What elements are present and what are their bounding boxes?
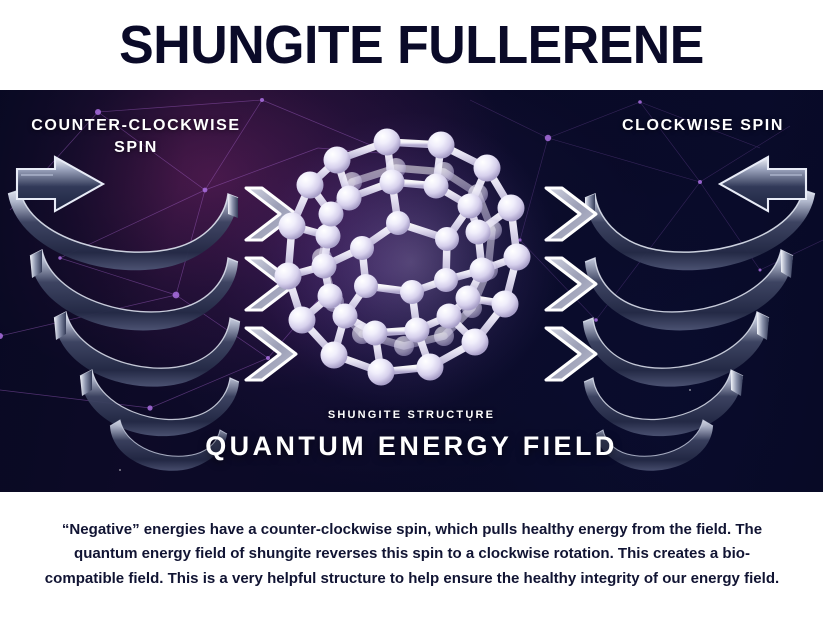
page-title: SHUNGITE FULLERENE: [119, 18, 704, 72]
shungite-fullerene-infographic: SHUNGITE FULLERENE: [0, 0, 823, 617]
description-paragraph: “Negative” energies have a counter-clock…: [39, 518, 783, 592]
counter-clockwise-spin-label: COUNTER-CLOCKWISE SPIN: [18, 115, 254, 158]
quantum-energy-field-caption: QUANTUM ENERGY FIELD: [0, 431, 823, 462]
diagram-panel: COUNTER-CLOCKWISE SPIN CLOCKWISE SPIN SH…: [0, 90, 823, 492]
header-band: SHUNGITE FULLERENE: [0, 0, 823, 90]
clockwise-spin-label: CLOCKWISE SPIN: [585, 115, 821, 137]
footer-band: “Negative” energies have a counter-clock…: [0, 492, 823, 617]
shungite-structure-caption: SHUNGITE STRUCTURE: [0, 409, 823, 421]
